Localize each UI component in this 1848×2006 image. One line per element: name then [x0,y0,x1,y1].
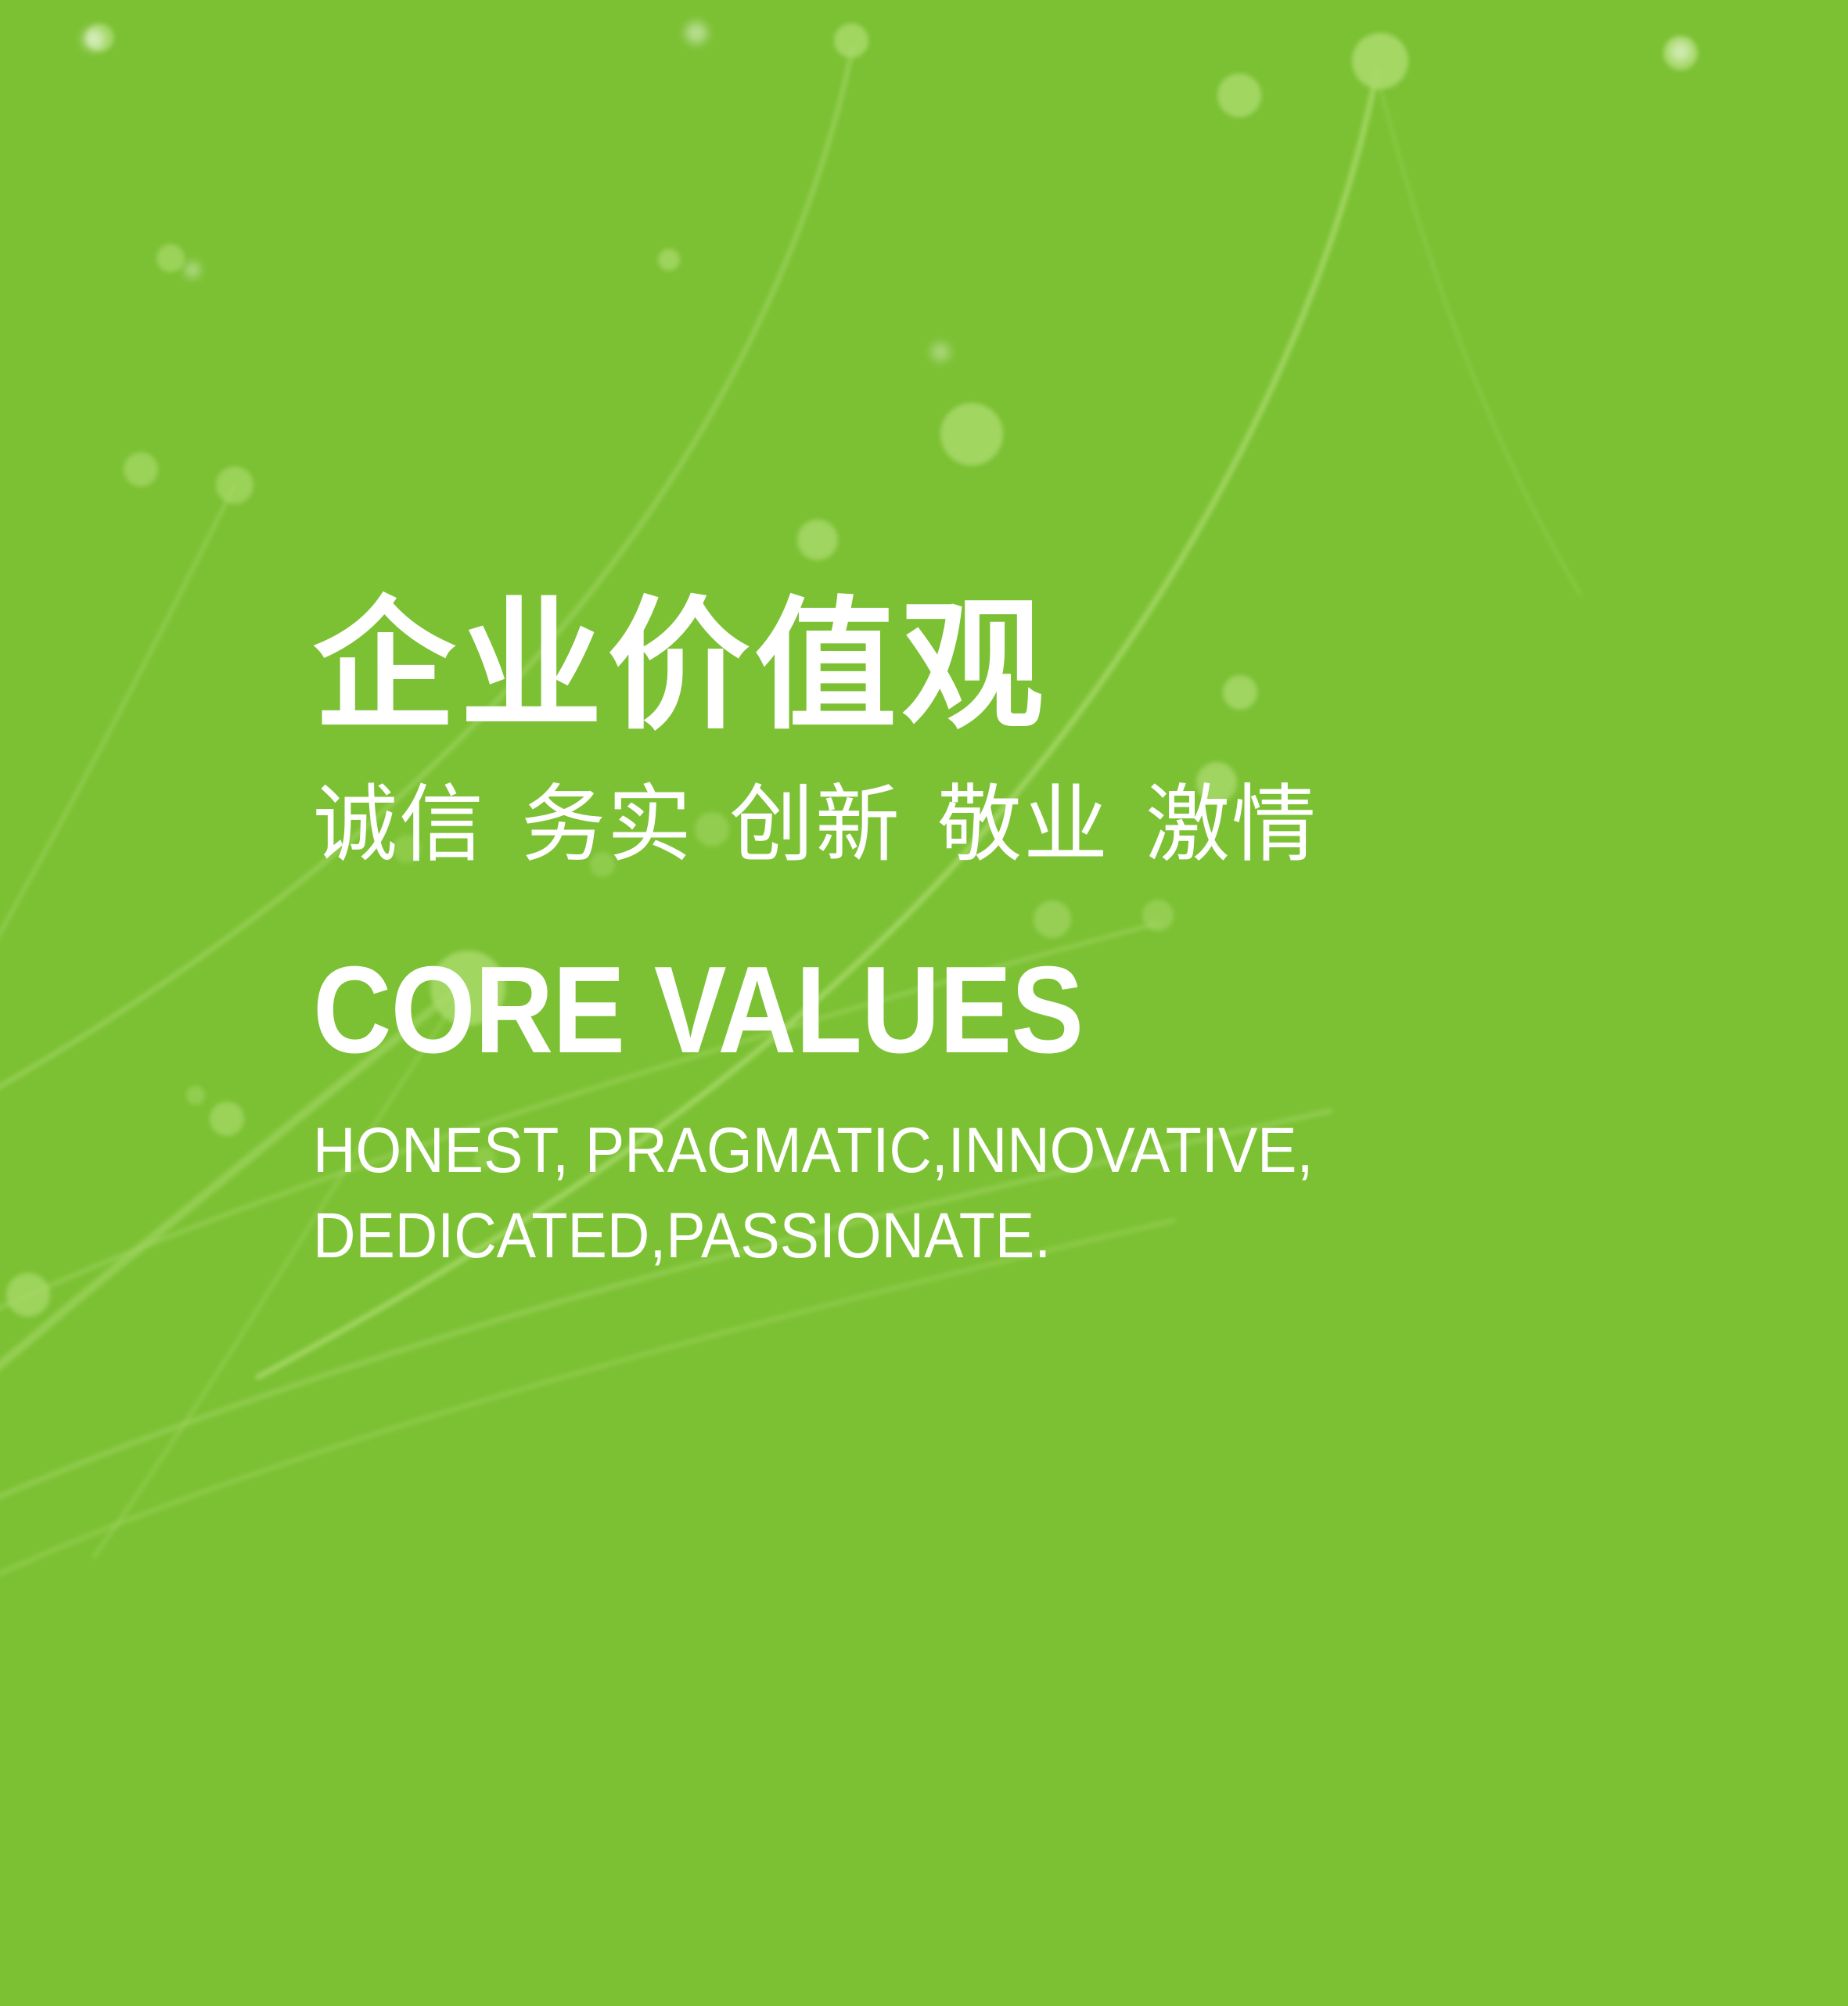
page-title-chinese: 企业价值观 [313,595,1721,737]
subtitle-item-4: 敬业 [937,777,1109,872]
subtitle-item-1: 诚信 [313,777,485,872]
subtitle-item-3: 创新 [729,777,901,872]
subtitle-item-5: 激情 [1145,777,1318,872]
core-values-poster: 企业价值观 诚信务实创新敬业激情 CORE VALUES HONEST, PRA… [0,0,1848,2006]
poster-text-block: 企业价值观 诚信务实创新敬业激情 CORE VALUES HONEST, PRA… [313,595,1721,1278]
page-title-english: CORE VALUES [313,948,1552,1072]
english-body-text: HONEST, PRAGMATIC,INNOVATIVE, DEDICATED,… [313,1108,1609,1278]
english-body-line-2: DEDICATED,PASSIONATE. [313,1193,1609,1278]
english-body-line-1: HONEST, PRAGMATIC,INNOVATIVE, [313,1108,1609,1193]
subtitle-item-2: 务实 [521,777,693,872]
chinese-subtitle-row: 诚信务实创新敬业激情 [313,782,1721,867]
